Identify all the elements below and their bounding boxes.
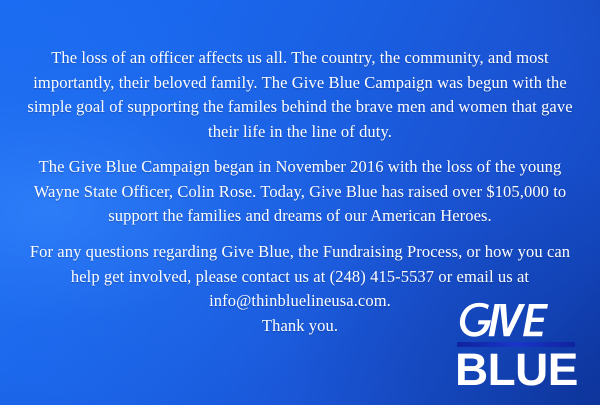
give-blue-logo: BLUE [452,300,580,396]
paragraph-campaign-history: The Give Blue Campaign began in November… [0,155,600,229]
paragraph-mission-statement: The loss of an officer affects us all. T… [0,46,600,144]
logo-blue-wordmark: BLUE [455,347,581,393]
logo-give-wordmark-icon [456,300,580,342]
give-blue-promo-card: The loss of an officer affects us all. T… [0,0,600,405]
